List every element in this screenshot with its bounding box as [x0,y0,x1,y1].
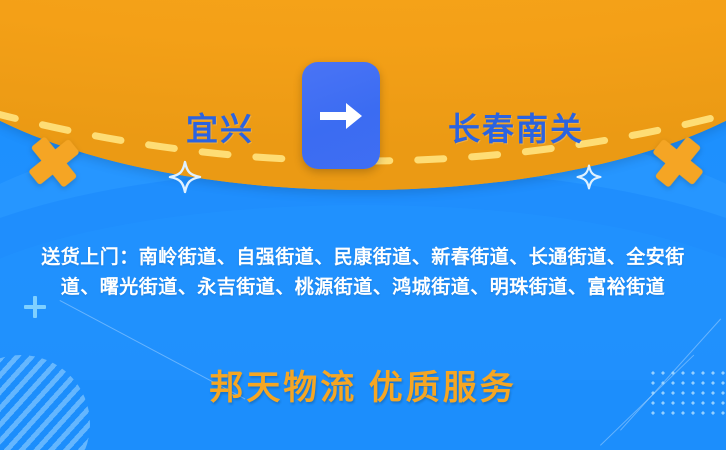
x-cross-icon-right [649,133,706,190]
route-arrow-card [302,62,380,169]
destination-city-label: 长春南关 [448,104,584,150]
x-cross-icon-left [25,133,82,190]
company-slogan: 邦天物流 优质服务 [0,360,726,409]
delivery-coverage-text: 送货上门：南岭街道、自强街道、民康街道、新春街道、长通街道、全安街道、曙光街道、… [24,243,702,303]
logistics-route-banner: 宜兴 长春南关 送货上门：南岭街道、自强街道、民康街道、新春街道、长通街道、全安… [0,0,726,450]
origin-city-label: 宜兴 [186,104,254,150]
arrow-right-icon [318,99,364,133]
